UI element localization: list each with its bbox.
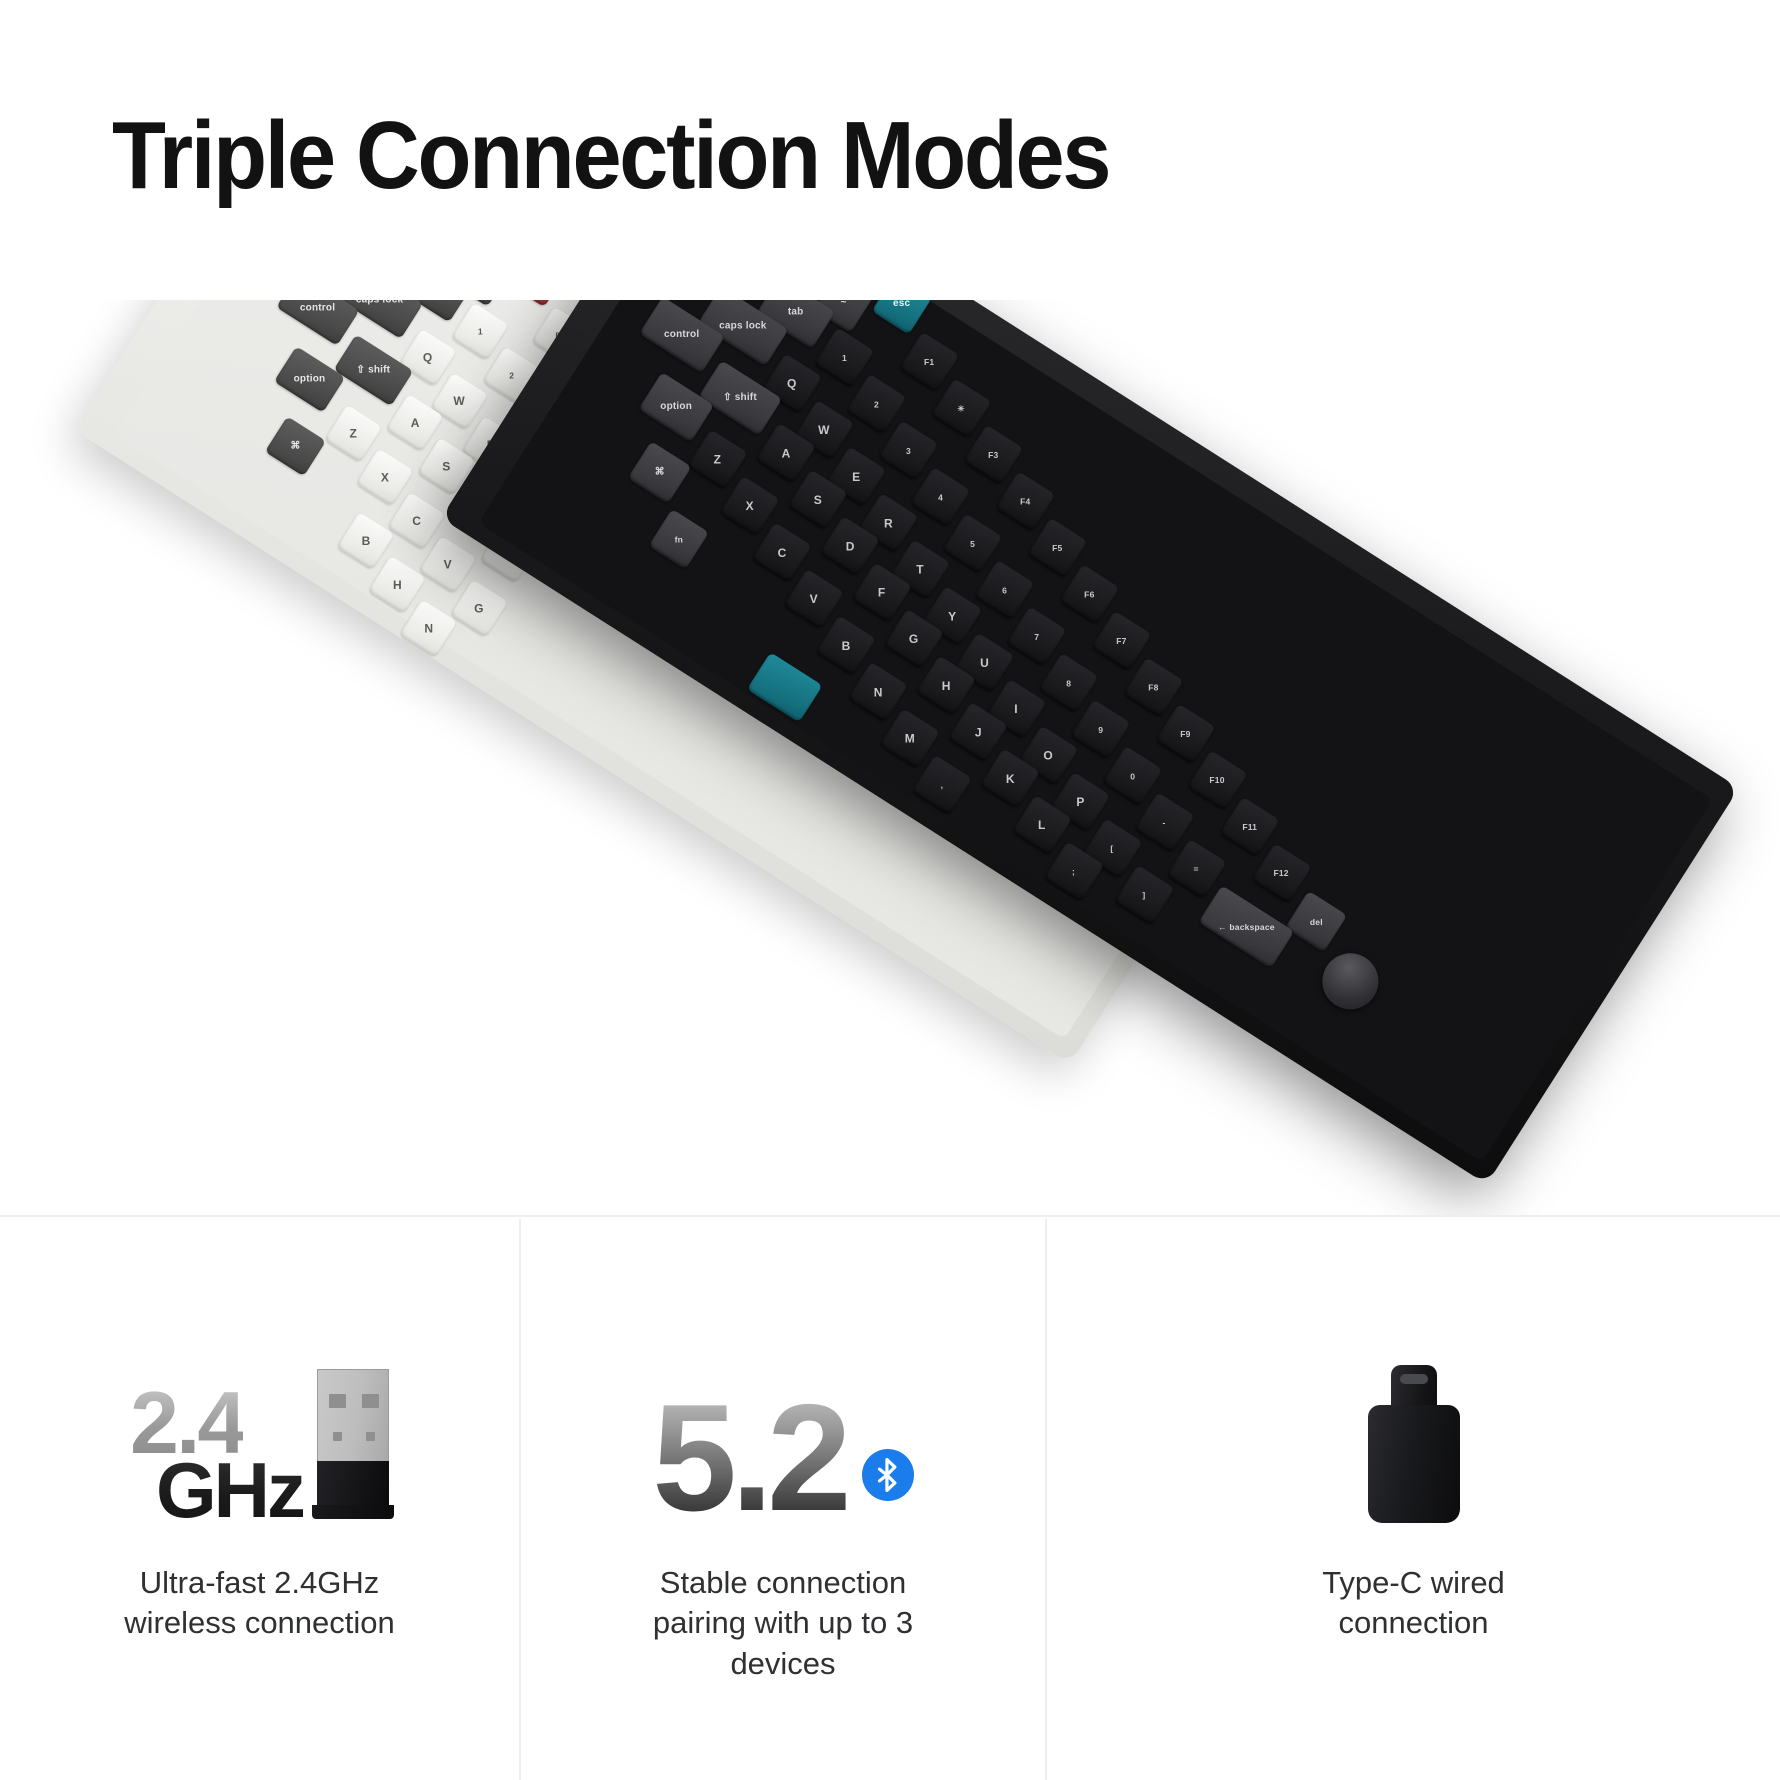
feature-panel-bluetooth-52: 5.2 Stable connection pairing with up to… (521, 1219, 1045, 1780)
wordmark-bluetooth-52: 5.2 (652, 1395, 913, 1523)
feature-caption-24ghz: Ultra-fast 2.4GHz wireless connection (95, 1563, 425, 1644)
feature-figure-type-c (1368, 1323, 1460, 1523)
usb-a-dongle-base (312, 1505, 394, 1519)
usb-a-dongle-icon (317, 1369, 389, 1521)
wordmark-bluetooth-number: 5.2 (652, 1395, 845, 1523)
usb-a-connector-head (317, 1369, 389, 1461)
feature-panel-type-c: Type-C wired connection (1047, 1219, 1780, 1780)
usb-contact-pad (333, 1432, 342, 1441)
usb-contact-pad (329, 1394, 346, 1408)
wordmark-24ghz-unit: GHz (156, 1459, 303, 1523)
usb-contact-pad (362, 1394, 379, 1408)
feature-caption-type-c: Type-C wired connection (1249, 1563, 1579, 1644)
hero-product-image: esc ~ F1 ☀ tab 1 2 3 F2 F3 caps lock Q W… (0, 300, 1780, 1215)
wordmark-24ghz: 2.4 GHz (130, 1387, 303, 1523)
feature-figure-24ghz: 2.4 GHz (130, 1323, 389, 1523)
page-title: Triple Connection Modes (112, 108, 1109, 204)
product-feature-page: Triple Connection Modes esc ~ F1 ☀ tab 1… (0, 0, 1780, 1780)
usb-type-c-tip (1391, 1365, 1437, 1409)
usb-a-dongle-body (317, 1461, 389, 1509)
feature-caption-bluetooth: Stable connection pairing with up to 3 d… (618, 1563, 948, 1684)
bluetooth-icon (862, 1449, 914, 1501)
feature-figure-bluetooth: 5.2 (652, 1323, 913, 1523)
usb-type-c-body (1368, 1405, 1460, 1523)
usb-type-c-icon (1368, 1365, 1460, 1523)
horizontal-divider (0, 1215, 1780, 1217)
usb-contact-pad (366, 1432, 375, 1441)
feature-panel-wireless-24ghz: 2.4 GHz Ultra-fast 2.4GHz wireless conne… (0, 1219, 519, 1780)
